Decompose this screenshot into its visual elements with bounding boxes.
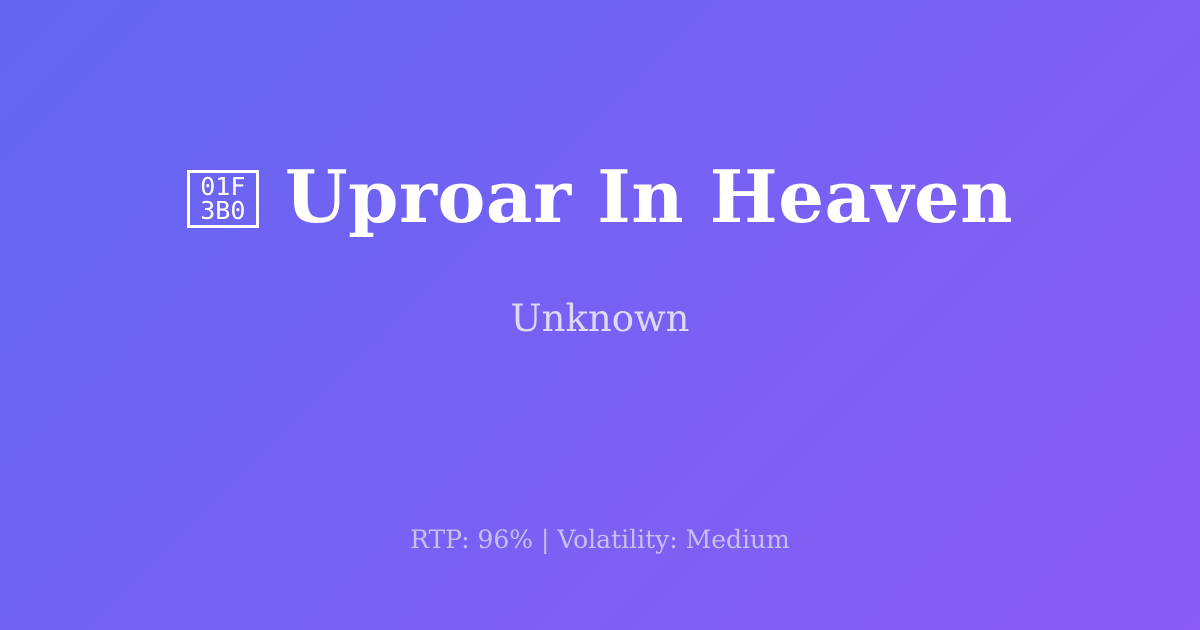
hero-section: 01F 3B0 Uproar In Heaven Unknown bbox=[0, 0, 1200, 500]
slot-machine-icon: 01F 3B0 bbox=[187, 170, 259, 228]
game-provider-subtitle: Unknown bbox=[510, 297, 689, 341]
title-row: 01F 3B0 Uproar In Heaven bbox=[40, 159, 1160, 235]
game-stats-footer: RTP: 96% | Volatility: Medium bbox=[0, 524, 1200, 555]
game-preview-card: 01F 3B0 Uproar In Heaven Unknown RTP: 96… bbox=[0, 0, 1200, 630]
page-title: Uproar In Heaven bbox=[285, 159, 1013, 235]
slot-machine-icon-hex-bottom: 3B0 bbox=[200, 199, 245, 223]
